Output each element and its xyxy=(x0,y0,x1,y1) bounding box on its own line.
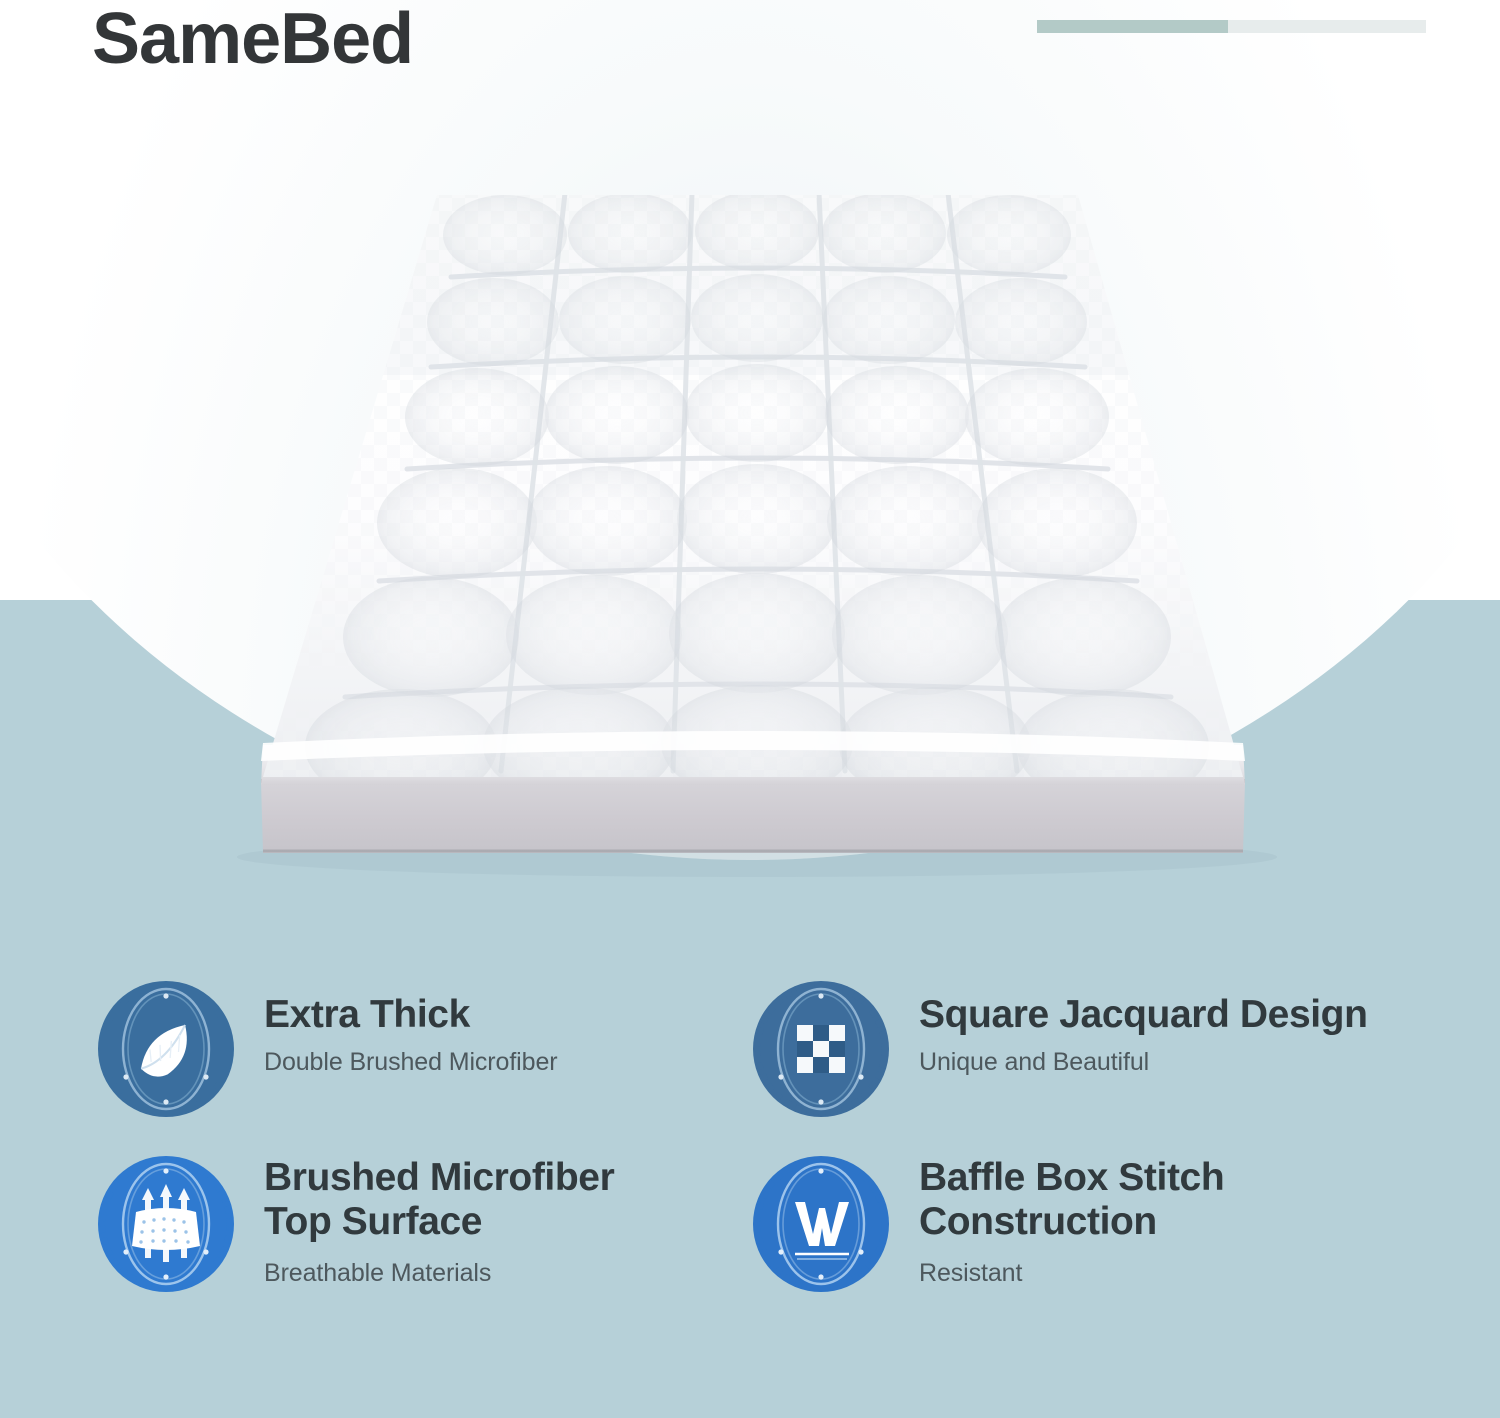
accent-bar-track xyxy=(1228,20,1426,33)
brand-logo: SameBed xyxy=(92,0,413,80)
feature-subtitle: Double Brushed Microfiber xyxy=(264,1048,557,1077)
feature-text: Extra Thick Double Brushed Microfiber xyxy=(264,975,557,1077)
feature-square-jacquard-design: Square Jacquard Design Unique and Beauti… xyxy=(751,975,1451,1150)
checkerboard-icon xyxy=(751,979,891,1119)
feature-extra-thick: Extra Thick Double Brushed Microfiber xyxy=(96,975,751,1150)
feature-title: Baffle Box Stitch Construction xyxy=(919,1156,1224,1243)
feature-baffle-box-stitch-construction: Baffle Box Stitch Construction Resistant xyxy=(751,1150,1451,1325)
accent-progress-bar xyxy=(1037,20,1426,33)
feature-subtitle: Unique and Beautiful xyxy=(919,1048,1368,1077)
feature-text: Baffle Box Stitch Construction Resistant xyxy=(919,1150,1224,1288)
feature-subtitle: Resistant xyxy=(919,1259,1224,1288)
feature-title: Brushed Microfiber Top Surface xyxy=(264,1156,614,1243)
feature-text: Brushed Microfiber Top Surface Breathabl… xyxy=(264,1150,614,1288)
feature-text: Square Jacquard Design Unique and Beauti… xyxy=(919,975,1368,1077)
feature-title: Square Jacquard Design xyxy=(919,993,1368,1037)
breathable-fabric-airflow-icon xyxy=(96,1154,236,1294)
feature-list: Extra Thick Double Brushed Microfiber xyxy=(0,975,1500,1375)
baffle-box-w-icon xyxy=(751,1154,891,1294)
feature-subtitle: Breathable Materials xyxy=(264,1259,614,1288)
product-feature-graphic: SameBed xyxy=(0,0,1500,1418)
feature-brushed-microfiber-top-surface: Brushed Microfiber Top Surface Breathabl… xyxy=(96,1150,751,1325)
feather-icon xyxy=(96,979,236,1119)
accent-bar-filled xyxy=(1037,20,1228,33)
feature-title: Extra Thick xyxy=(264,993,557,1037)
product-image-mattress-topper xyxy=(205,185,1310,885)
